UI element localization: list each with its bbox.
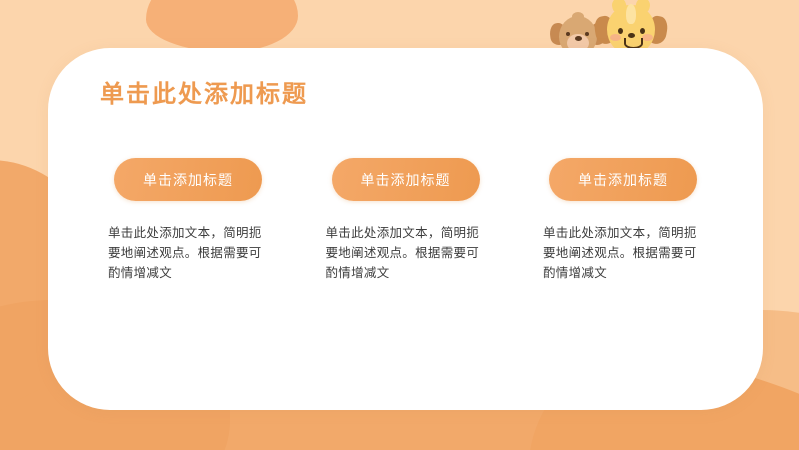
slide-canvas: 单击此处添加标题 单击添加标题 单击此处添加文本，简明扼要地阐述观点。根据需要可… bbox=[0, 0, 799, 450]
brown-puppy-eye-right bbox=[585, 32, 589, 36]
column-1-body-text[interactable]: 单击此处添加文本，简明扼要地阐述观点。根据需要可酌情增减文 bbox=[108, 223, 268, 283]
column-3-heading-button[interactable]: 单击添加标题 bbox=[549, 158, 697, 201]
column-3-body-text[interactable]: 单击此处添加文本，简明扼要地阐述观点。根据需要可酌情增减文 bbox=[543, 223, 703, 283]
yellow-puppy-cheek-left bbox=[610, 34, 621, 41]
column-1: 单击添加标题 单击此处添加文本，简明扼要地阐述观点。根据需要可酌情增减文 bbox=[88, 158, 288, 283]
brown-puppy-eye-left bbox=[566, 32, 570, 36]
yellow-puppy-blaze bbox=[626, 4, 636, 24]
column-2-heading-button[interactable]: 单击添加标题 bbox=[332, 158, 480, 201]
column-1-heading-button[interactable]: 单击添加标题 bbox=[114, 158, 262, 201]
slide-title[interactable]: 单击此处添加标题 bbox=[100, 74, 308, 109]
yellow-puppy-icon bbox=[598, 2, 664, 54]
yellow-puppy-cheek-right bbox=[642, 34, 653, 41]
columns-container: 单击添加标题 单击此处添加文本，简明扼要地阐述观点。根据需要可酌情增减文 单击添… bbox=[88, 158, 723, 283]
content-card: 单击此处添加标题 单击添加标题 单击此处添加文本，简明扼要地阐述观点。根据需要可… bbox=[48, 48, 763, 410]
yellow-puppy-eye-left bbox=[618, 28, 623, 34]
column-2-body-text[interactable]: 单击此处添加文本，简明扼要地阐述观点。根据需要可酌情增减文 bbox=[326, 223, 486, 283]
yellow-puppy-eye-right bbox=[640, 28, 645, 34]
column-2: 单击添加标题 单击此处添加文本，简明扼要地阐述观点。根据需要可酌情增减文 bbox=[306, 158, 506, 283]
column-3: 单击添加标题 单击此处添加文本，简明扼要地阐述观点。根据需要可酌情增减文 bbox=[523, 158, 723, 283]
brown-puppy-nose bbox=[575, 36, 582, 41]
puppy-decoration bbox=[548, 0, 674, 52]
